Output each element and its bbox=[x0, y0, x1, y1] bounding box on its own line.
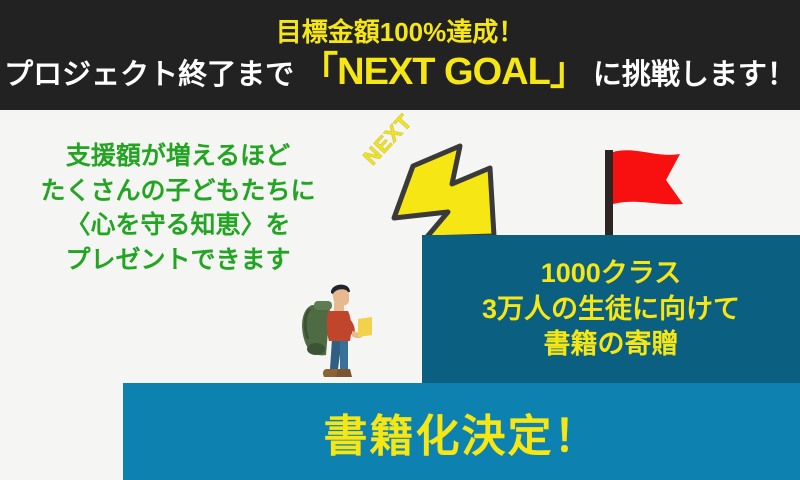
step-upper-box: 1000クラス 3万人の生徒に向けて 書籍の寄贈 bbox=[422, 235, 800, 384]
promo-graphic: 目標金額100%達成！ プロジェクト終了まで 「NEXT GOAL」 に挑戦しま… bbox=[0, 0, 800, 480]
header-next-goal-line: プロジェクト終了まで 「NEXT GOAL」 に挑戦します！ bbox=[4, 53, 796, 91]
header-banner: 目標金額100%達成！ プロジェクト終了まで 「NEXT GOAL」 に挑戦しま… bbox=[0, 0, 800, 110]
description-text: 支援額が増えるほど たくさんの子どもたちに 〈心を守る知恵〉を プレゼントできま… bbox=[8, 140, 348, 278]
step-lower-label: 書籍化決定！ bbox=[324, 400, 600, 464]
red-flag-group bbox=[588, 142, 698, 242]
description-line-2: たくさんの子どもたちに bbox=[8, 175, 348, 210]
step-upper-line-3: 書籍の寄贈 bbox=[544, 327, 679, 363]
header-goal-achieved-text: 目標金額100%達成！ bbox=[276, 19, 525, 45]
header-next-goal-highlight: 「NEXT GOAL」 bbox=[300, 53, 587, 91]
flag-icon bbox=[588, 142, 698, 242]
next-arrow-group: NEXT bbox=[372, 124, 504, 246]
description-line-4: プレゼントできます bbox=[8, 244, 348, 279]
header-line2-suffix: に挑戦します！ bbox=[593, 61, 796, 90]
description-line-3: 〈心を守る知恵〉を bbox=[8, 209, 348, 244]
step-upper-line-2: 3万人の生徒に向けて bbox=[482, 292, 740, 328]
description-line-1: 支援額が増えるほど bbox=[8, 140, 348, 175]
header-line2-prefix: プロジェクト終了まで bbox=[4, 61, 294, 90]
step-upper-line-1: 1000クラス bbox=[541, 256, 682, 292]
hiker-illustration bbox=[292, 277, 388, 387]
step-lower-bar: 書籍化決定！ bbox=[123, 383, 800, 480]
backpacker-person-icon bbox=[292, 277, 388, 387]
